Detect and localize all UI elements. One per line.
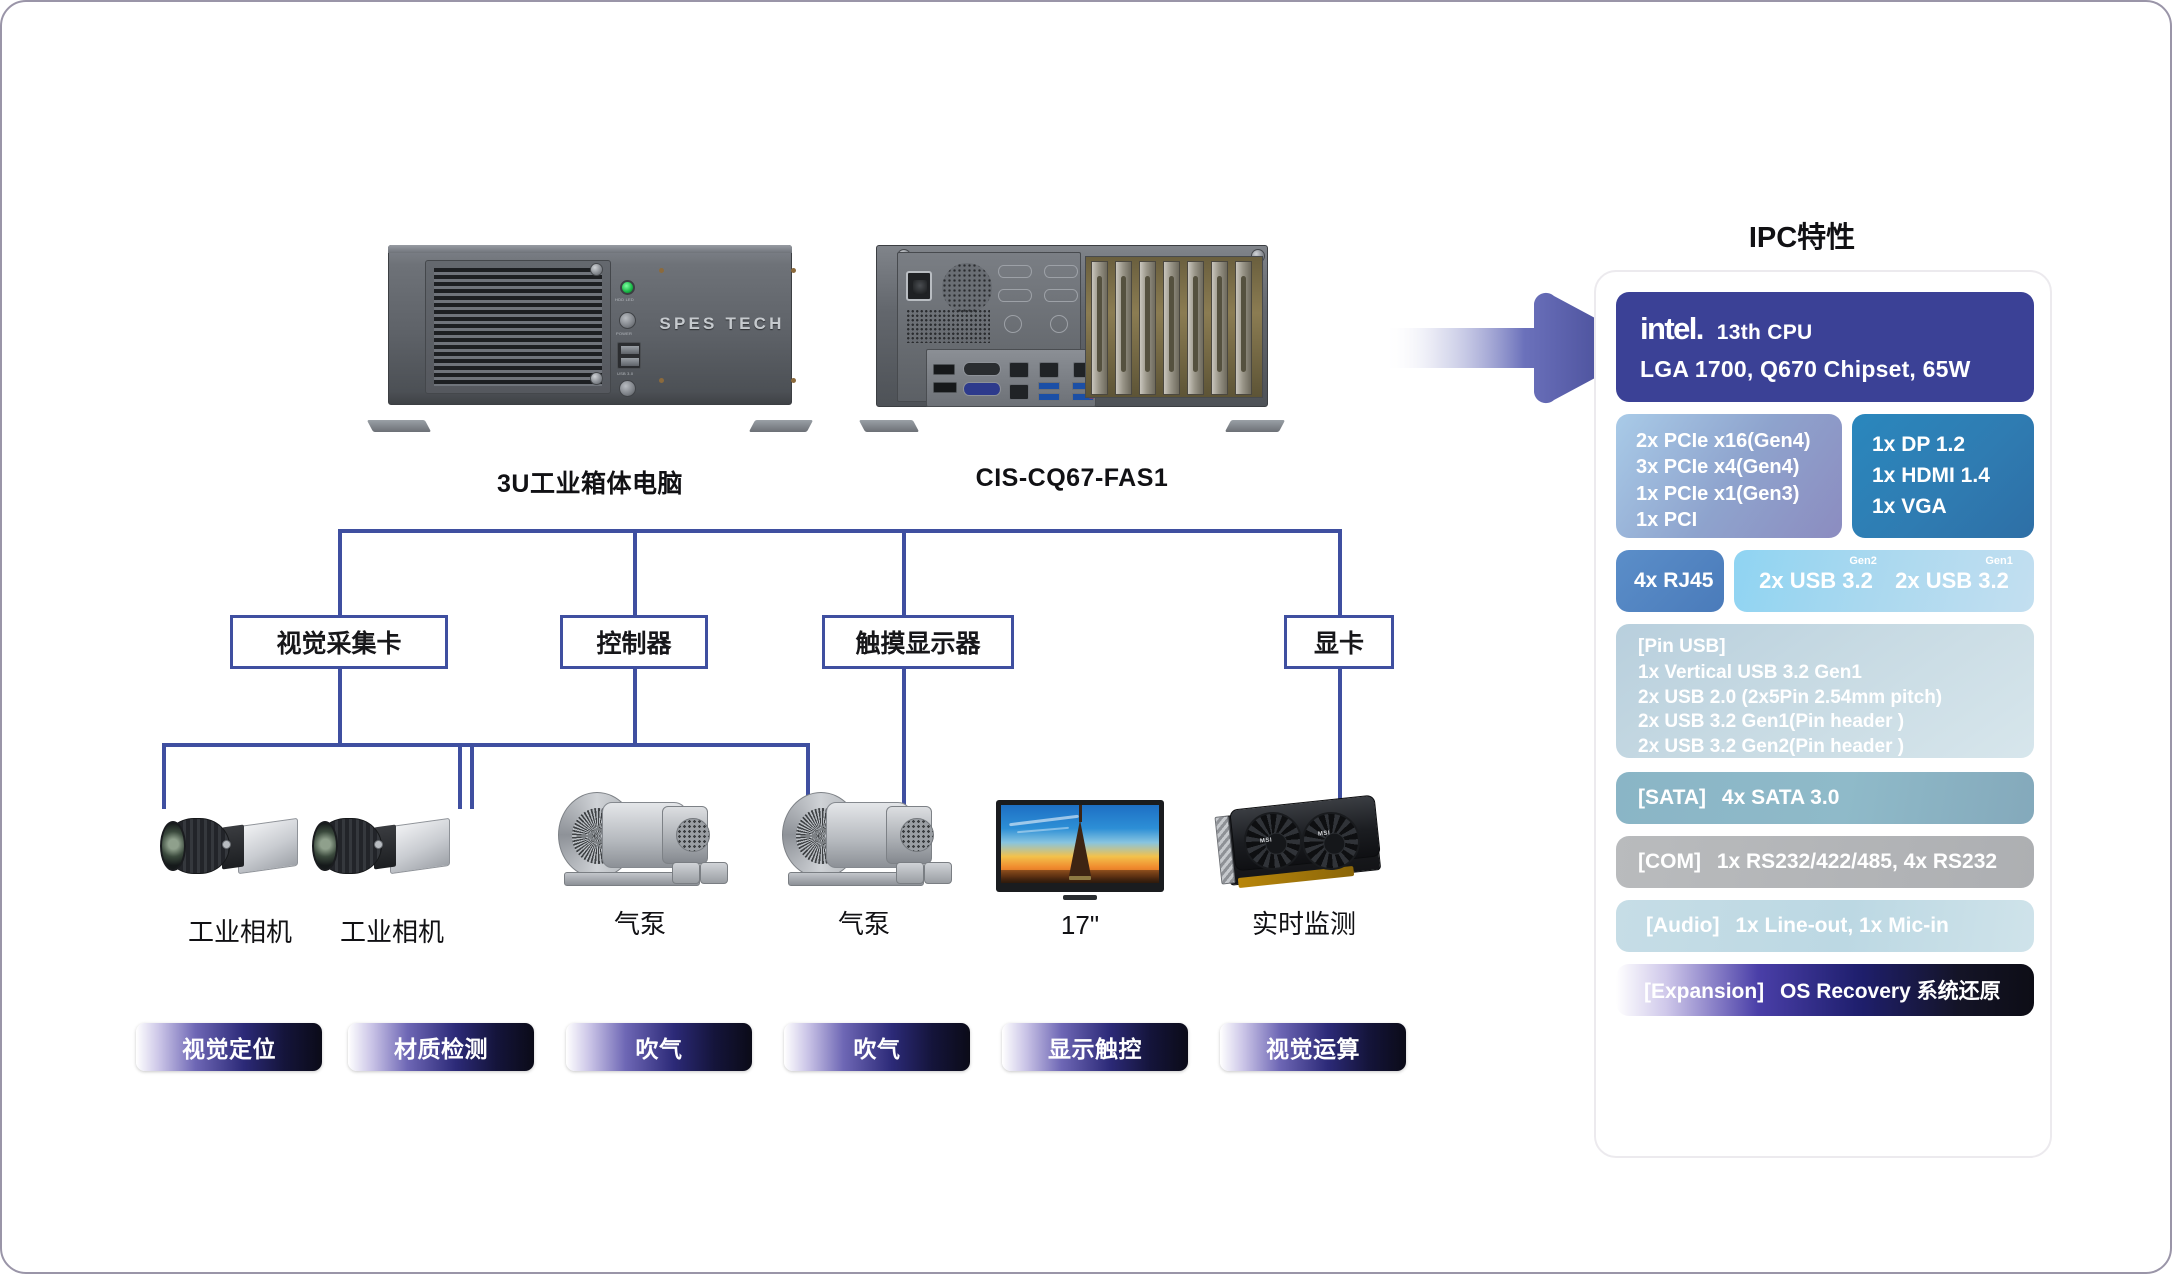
pcie-line: 1x PCI <box>1636 507 1842 533</box>
com-label: [COM] <box>1638 850 1701 873</box>
device-label: 气泵 <box>774 904 954 941</box>
thumbscrew-icon <box>590 372 603 385</box>
spec-pin-usb: [Pin USB] 1x Vertical USB 3.2 Gen1 2x US… <box>1616 624 2034 758</box>
badge-label: 材质检测 <box>394 1030 488 1064</box>
badge-label: 视觉定位 <box>182 1030 276 1064</box>
rj45-port-icon <box>1039 362 1059 378</box>
expansion-slot-cover <box>1187 261 1204 395</box>
spec-cpu: intel. 13th CPU LGA 1700, Q670 Chipset, … <box>1616 292 2034 402</box>
spec-display-outputs: 1x DP 1.2 1x HDMI 1.4 1x VGA <box>1852 414 2034 538</box>
caption-cis-cq67-fas1: CIS-CQ67-FAS1 <box>862 464 1282 493</box>
vent-panel-icon <box>425 260 611 394</box>
badge-vision-positioning[interactable]: 视觉定位 <box>136 1023 322 1071</box>
rj45-port-icon <box>1009 384 1029 400</box>
intel-logo: intel. <box>1640 311 1703 347</box>
tree-branch-bus <box>458 743 810 747</box>
serial-port-icon <box>963 362 1001 376</box>
device-air-pump-2: 气泵 <box>774 784 954 896</box>
tree-node-label: 视觉采集卡 <box>276 624 401 660</box>
expansion-slot-cover <box>1163 261 1180 395</box>
chassis-foot-left <box>367 420 431 432</box>
device-label: 工业相机 <box>302 912 482 949</box>
dp-port-icon <box>933 364 955 375</box>
usb3-port-icon <box>1038 382 1060 390</box>
com-port-knockout-icon <box>1044 289 1078 302</box>
tree-drop-line <box>1338 529 1342 615</box>
spec-sata: [SATA] 4x SATA 3.0 <box>1616 772 2034 824</box>
sata-row: [SATA] 4x SATA 3.0 <box>1638 786 1839 810</box>
audio-value: 1x Line-out, 1x Mic-in <box>1735 914 1949 937</box>
power-button-knockout-icon <box>1004 315 1022 333</box>
tree-branch-line <box>338 669 342 745</box>
display-line: 1x VGA <box>1872 495 2034 519</box>
product-image-cis-cq67-fas1 <box>862 245 1282 421</box>
spec-expansion: [Expansion] OS Recovery 系统还原 <box>1616 964 2034 1016</box>
ipc-spec-card: intel. 13th CPU LGA 1700, Q670 Chipset, … <box>1594 270 2052 1158</box>
pin-usb-line: 2x USB 3.2 Gen2(Pin header ) <box>1638 735 2034 760</box>
ipc-panel-title: IPC特性 <box>1592 214 2012 256</box>
badge-air-blow-2[interactable]: 吹气 <box>784 1023 970 1071</box>
com-port-knockout-icon <box>998 289 1032 302</box>
pin-usb-line: 2x USB 2.0 (2x5Pin 2.54mm pitch) <box>1638 686 2034 711</box>
cpu-generation: 13th CPU <box>1717 321 1813 345</box>
device-label: 实时监测 <box>1214 904 1394 941</box>
air-pump-icon <box>550 784 730 896</box>
chassis-body: HDD LED POWER USB 3.0 SPES TECH <box>388 245 792 405</box>
chassis-foot-right <box>1225 420 1285 432</box>
com-row: [COM] 1x RS232/422/485, 4x RS232 <box>1638 850 1997 874</box>
product-image-3u-chassis: HDD LED POWER USB 3.0 SPES TECH <box>370 245 810 421</box>
audio-row: [Audio] 1x Line-out, 1x Mic-in <box>1646 914 1949 938</box>
badge-display-touch[interactable]: 显示触控 <box>1002 1023 1188 1071</box>
expansion-slot-cover <box>1235 261 1252 395</box>
rj45-port-icon <box>1009 362 1029 378</box>
diagram-page: HDD LED POWER USB 3.0 SPES TECH 3U工业箱体电脑 <box>0 0 2172 1274</box>
badge-label: 吹气 <box>636 1030 683 1064</box>
power-button-icon <box>619 312 636 329</box>
reset-button-knockout-icon <box>1050 315 1068 333</box>
com-value: 1x RS232/422/485, 4x RS232 <box>1717 850 1997 873</box>
usb-ports-icon <box>617 342 641 369</box>
expansion-slot-bay <box>1085 256 1263 398</box>
badge-label: 视觉运算 <box>1266 1030 1360 1064</box>
usb-text: 2x USB 3.2 <box>1895 568 2009 593</box>
tree-node-label: 显卡 <box>1314 624 1364 660</box>
chassis-top-edge <box>388 245 792 253</box>
rivet-icon <box>659 268 664 273</box>
badge-label: 显示触控 <box>1048 1030 1142 1064</box>
sata-value: 4x SATA 3.0 <box>1722 786 1840 809</box>
tree-node-label: 控制器 <box>596 624 671 660</box>
rear-io-area <box>897 252 1081 402</box>
device-label: 气泵 <box>550 904 730 941</box>
spec-lan: 4x RJ45 <box>1616 550 1724 612</box>
rivet-icon <box>791 268 796 273</box>
rivet-icon <box>791 378 796 383</box>
tree-node-vision-capture-card[interactable]: 视觉采集卡 <box>230 615 448 669</box>
fan-grille-icon <box>942 263 992 313</box>
tree-drop-line <box>633 529 637 615</box>
pin-usb-header: [Pin USB] <box>1638 636 2034 658</box>
device-industrial-camera-2: 工业相机 <box>302 792 482 904</box>
usb-item-1: 2x USB 3.2 Gen2 <box>1759 568 1873 594</box>
spec-audio: [Audio] 1x Line-out, 1x Mic-in <box>1616 900 2034 952</box>
expansion-value: OS Recovery 系统还原 <box>1780 980 2001 1003</box>
spec-usb: 2x USB 3.2 Gen2 2x USB 3.2 Gen1 <box>1734 550 2034 612</box>
device-graphics-card: MSI MSI 实时监测 <box>1214 784 1394 896</box>
caption-3u-chassis: 3U工业箱体电脑 <box>370 464 810 500</box>
badge-air-blow-1[interactable]: 吹气 <box>566 1023 752 1071</box>
expansion-slot-cover <box>1115 261 1132 395</box>
usb-gen-badge: Gen2 <box>1849 555 1877 567</box>
chassis-foot-left <box>859 420 919 432</box>
tree-drop-line <box>902 529 906 615</box>
usb3-port-icon <box>1038 393 1060 401</box>
rear-chassis-body <box>876 245 1268 407</box>
spec-com: [COM] 1x RS232/422/485, 4x RS232 <box>1616 836 2034 888</box>
usb-label: USB 3.0 <box>617 371 633 376</box>
hdd-led-label: HDD LED <box>615 297 634 302</box>
tree-node-controller[interactable]: 控制器 <box>560 615 708 669</box>
device-touch-monitor: 17" <box>990 790 1170 902</box>
motherboard-io-shield <box>926 349 1096 407</box>
display-line: 1x HDMI 1.4 <box>1872 464 2034 488</box>
reset-button-icon <box>619 380 636 397</box>
device-label: 17" <box>990 910 1170 941</box>
hdmi-port-icon <box>933 382 957 393</box>
hdd-led-icon <box>620 280 635 295</box>
expansion-row: [Expansion] OS Recovery 系统还原 <box>1644 975 2001 1005</box>
air-pump-icon <box>774 784 954 896</box>
badge-material-inspection[interactable]: 材质检测 <box>348 1023 534 1071</box>
tree-node-graphics-card[interactable]: 显卡 <box>1284 615 1394 669</box>
com-port-knockout-icon <box>998 265 1032 278</box>
monitor-icon <box>990 790 1170 902</box>
sata-label: [SATA] <box>1638 786 1706 809</box>
thumbscrew-icon <box>590 263 603 276</box>
spec-pcie: 2x PCIe x16(Gen4) 3x PCIe x4(Gen4) 1x PC… <box>1616 414 1842 538</box>
vga-port-icon <box>963 382 1001 396</box>
usb-text: 2x USB 3.2 <box>1759 568 1873 593</box>
industrial-camera-icon <box>302 792 482 904</box>
badge-vision-compute[interactable]: 视觉运算 <box>1220 1023 1406 1071</box>
usb-gen-badge: Gen1 <box>1985 555 2013 567</box>
brand-logo-text: SPES TECH <box>657 314 787 334</box>
system-tree-diagram: 视觉采集卡 控制器 触摸显示器 显卡 <box>202 529 1452 809</box>
pcie-line: 1x PCIe x1(Gen3) <box>1636 481 1842 507</box>
usb-item-2: 2x USB 3.2 Gen1 <box>1895 568 2009 594</box>
audio-label: [Audio] <box>1646 914 1719 937</box>
pcie-line: 3x PCIe x4(Gen4) <box>1636 454 1842 480</box>
tree-branch-bus <box>162 743 474 747</box>
expansion-slot-cover <box>1091 261 1108 395</box>
pin-usb-line: 2x USB 3.2 Gen1(Pin header ) <box>1638 710 2034 735</box>
tree-node-label: 触摸显示器 <box>855 624 980 660</box>
pcie-line: 2x PCIe x16(Gen4) <box>1636 428 1842 454</box>
tree-branch-line <box>633 669 637 745</box>
tree-drop-line <box>338 529 342 615</box>
tree-bus-line <box>338 529 1340 533</box>
tree-node-touch-monitor[interactable]: 触摸显示器 <box>822 615 1014 669</box>
badge-label: 吹气 <box>854 1030 901 1064</box>
lan-label: 4x RJ45 <box>1634 569 1713 593</box>
graphics-card-icon: MSI MSI <box>1214 784 1394 896</box>
expansion-slot-cover <box>1139 261 1156 395</box>
cpu-details: LGA 1700, Q670 Chipset, 65W <box>1640 356 2034 383</box>
chassis-foot-right <box>749 420 813 432</box>
device-air-pump-1: 气泵 <box>550 784 730 896</box>
rivet-icon <box>659 378 664 383</box>
ac-power-inlet-icon <box>906 271 932 301</box>
expansion-label: [Expansion] <box>1644 980 1764 1003</box>
mesh-vent-icon <box>906 309 990 343</box>
pin-usb-line: 1x Vertical USB 3.2 Gen1 <box>1638 661 2034 686</box>
power-label: POWER <box>616 331 632 336</box>
com-port-knockout-icon <box>1044 265 1078 278</box>
expansion-slot-cover <box>1211 261 1228 395</box>
display-line: 1x DP 1.2 <box>1872 433 2034 457</box>
